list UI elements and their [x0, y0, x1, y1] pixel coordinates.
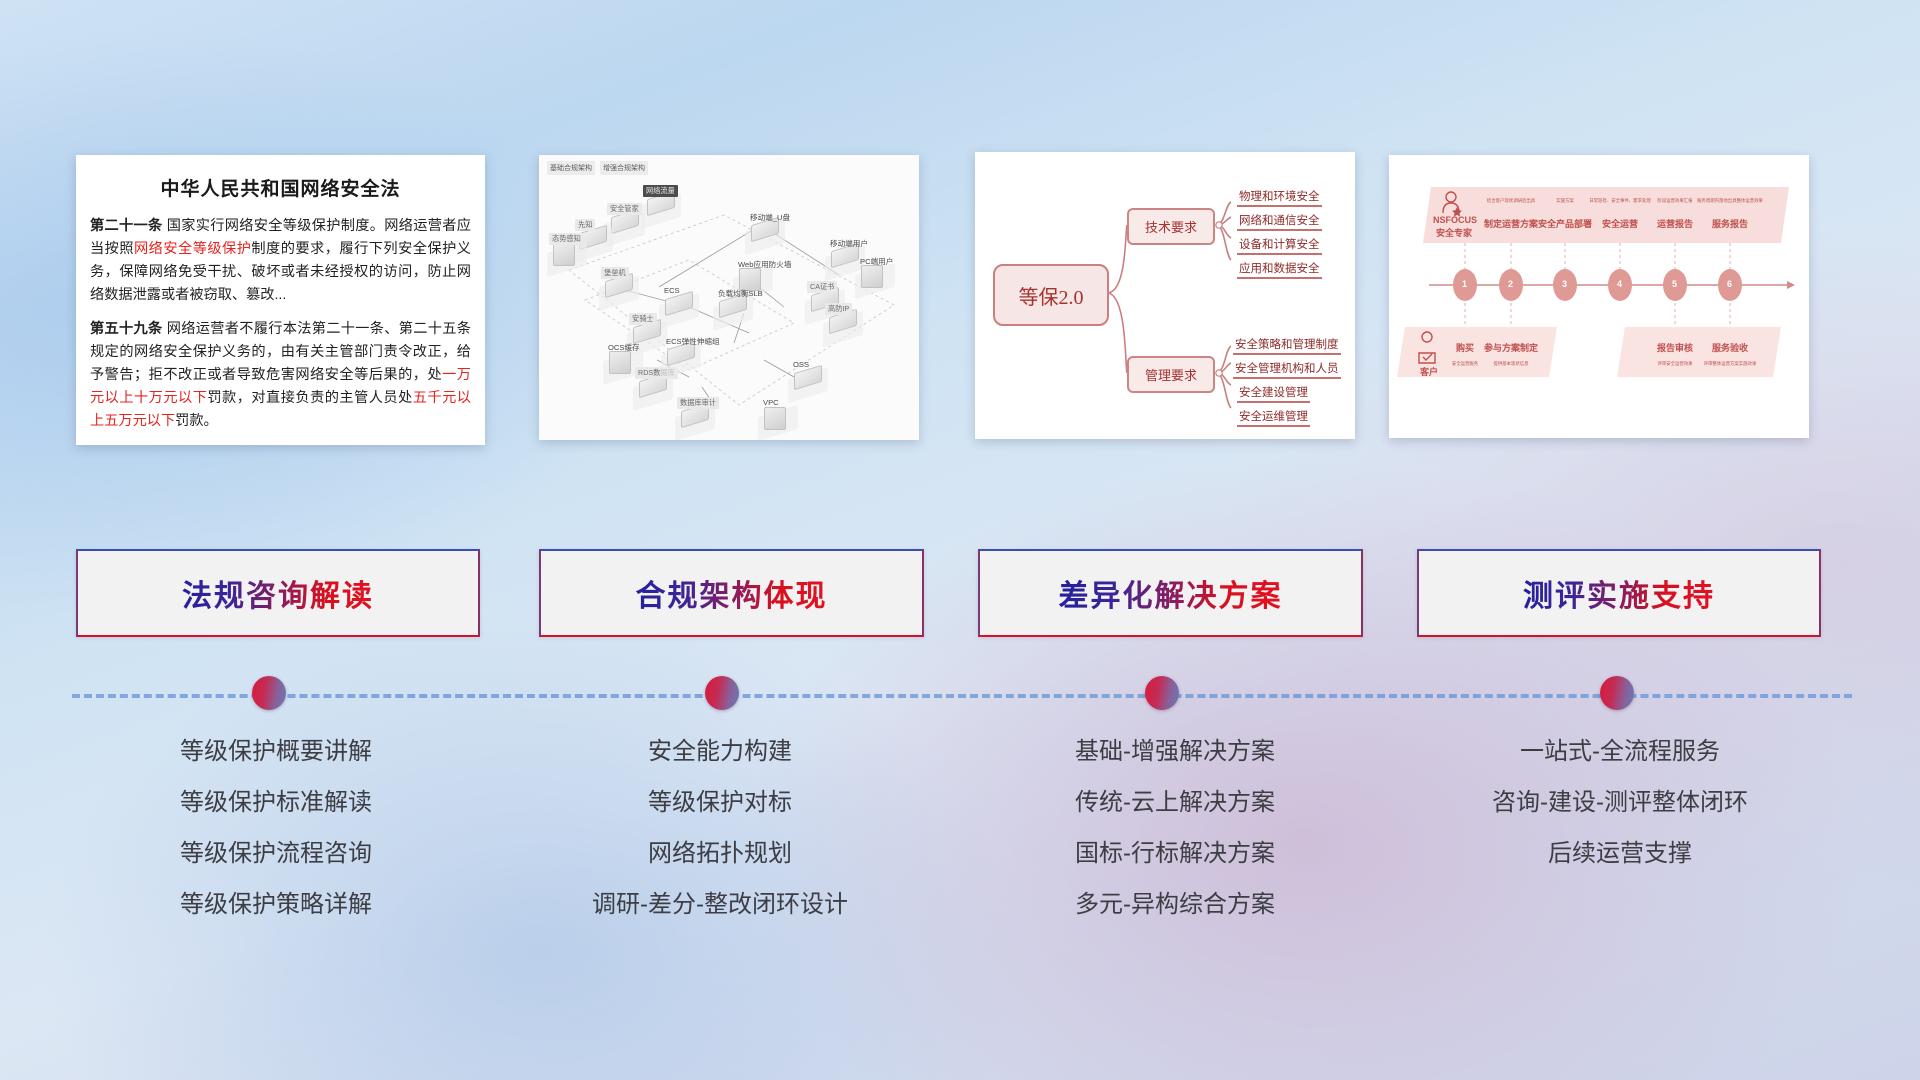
title-box-differentiated-solution[interactable]: 差异化解决方案	[978, 549, 1363, 637]
list-item: 多元-异构综合方案	[955, 893, 1395, 917]
list-item: 网络拓扑规划	[500, 842, 940, 866]
list-item: 等级保护标准解读	[56, 791, 496, 815]
title-box-compliance-architecture[interactable]: 合规架构体现	[539, 549, 924, 637]
list-item: 安全能力构建	[500, 740, 940, 764]
list-item: 等级保护概要讲解	[56, 740, 496, 764]
bullet-column-2: 基础-增强解决方案 传统-云上解决方案 国标-行标解决方案 多元-异构综合方案	[955, 740, 1395, 944]
list-item: 基础-增强解决方案	[955, 740, 1395, 764]
title-label-1: 合规架构体现	[636, 571, 828, 615]
bullet-column-3: 一站式-全流程服务 咨询-建设-测评整体闭环 后续运营支撑	[1400, 740, 1840, 893]
slide-root: 中华人民共和国网络安全法 第二十一条 国家实行网络安全等级保护制度。网络运营者应…	[0, 0, 1920, 1080]
list-item: 调研-差分-整改闭环设计	[500, 893, 940, 917]
title-label-2: 差异化解决方案	[1059, 571, 1283, 615]
title-label-0: 法规咨询解读	[182, 571, 374, 615]
title-label-3: 测评实施支持	[1523, 571, 1715, 615]
title-box-regulation-consulting[interactable]: 法规咨询解读	[76, 549, 480, 637]
list-item: 等级保护策略详解	[56, 893, 496, 917]
list-item: 等级保护对标	[500, 791, 940, 815]
list-item: 等级保护流程咨询	[56, 842, 496, 866]
list-item: 一站式-全流程服务	[1400, 740, 1840, 764]
title-box-assessment-support[interactable]: 测评实施支持	[1417, 549, 1821, 637]
list-item: 咨询-建设-测评整体闭环	[1400, 791, 1840, 815]
list-item: 传统-云上解决方案	[955, 791, 1395, 815]
list-item: 后续运营支撑	[1400, 842, 1840, 866]
bullet-column-0: 等级保护概要讲解 等级保护标准解读 等级保护流程咨询 等级保护策略详解	[56, 740, 496, 944]
list-item: 国标-行标解决方案	[955, 842, 1395, 866]
bullet-column-1: 安全能力构建 等级保护对标 网络拓扑规划 调研-差分-整改闭环设计	[500, 740, 940, 944]
